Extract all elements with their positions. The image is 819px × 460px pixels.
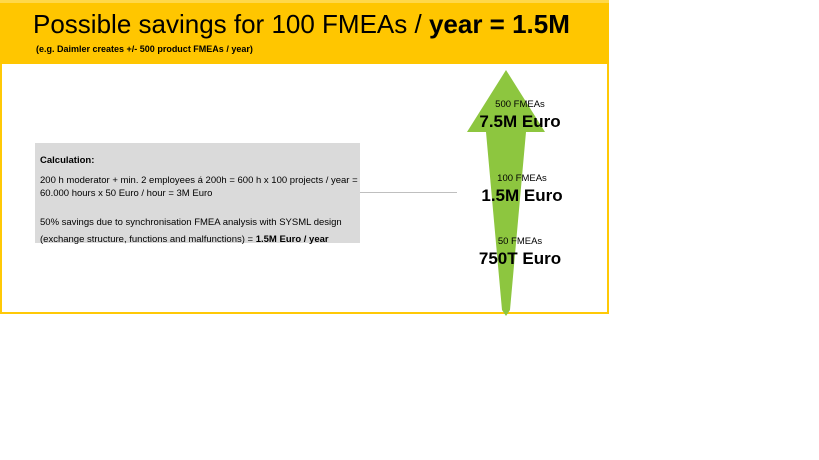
header-top-accent-line <box>0 0 609 3</box>
calculation-heading: Calculation: <box>40 154 360 167</box>
label-100-fmeas: 100 FMEAs 1.5M Euro <box>427 172 617 206</box>
page-subtitle: (e.g. Daimler creates +/- 500 product FM… <box>36 43 253 55</box>
page-title: Possible savings for 100 FMEAs / year = … <box>33 9 570 39</box>
calculation-line-4: (exchange structure, functions and malfu… <box>40 231 360 248</box>
calculation-line-2: 60.000 hours x 50 Euro / hour = 3M Euro <box>40 188 360 201</box>
label-50-fmeas-count: 50 FMEAs <box>425 235 615 248</box>
label-500-fmeas: 500 FMEAs 7.5M Euro <box>420 98 620 132</box>
label-50-fmeas: 50 FMEAs 750T Euro <box>425 235 615 269</box>
page-title-regular: Possible savings for 100 FMEAs / <box>33 9 429 39</box>
label-500-fmeas-value: 7.5M Euro <box>420 111 620 132</box>
label-500-fmeas-count: 500 FMEAs <box>420 98 620 111</box>
page-title-bold: year = 1.5M <box>429 9 570 39</box>
header-band: Possible savings for 100 FMEAs / year = … <box>0 0 609 64</box>
calculation-line-3: 50% savings due to synchronisation FMEA … <box>40 214 360 231</box>
content-frame: Possible savings for 100 FMEAs / year = … <box>0 0 609 314</box>
slide-canvas: Possible savings for 100 FMEAs / year = … <box>0 0 819 460</box>
calculation-line-4-prefix: (exchange structure, functions and malfu… <box>40 234 256 245</box>
calculation-spacer <box>40 200 360 214</box>
label-50-fmeas-value: 750T Euro <box>425 248 615 269</box>
calculation-box: Calculation: 200 h moderator + min. 2 em… <box>35 143 360 243</box>
label-100-fmeas-count: 100 FMEAs <box>427 172 617 185</box>
label-100-fmeas-value: 1.5M Euro <box>427 185 617 206</box>
calculation-line-4-result: 1.5M Euro / year <box>256 234 329 245</box>
calculation-line-1: 200 h moderator + min. 2 employees á 200… <box>40 175 360 188</box>
